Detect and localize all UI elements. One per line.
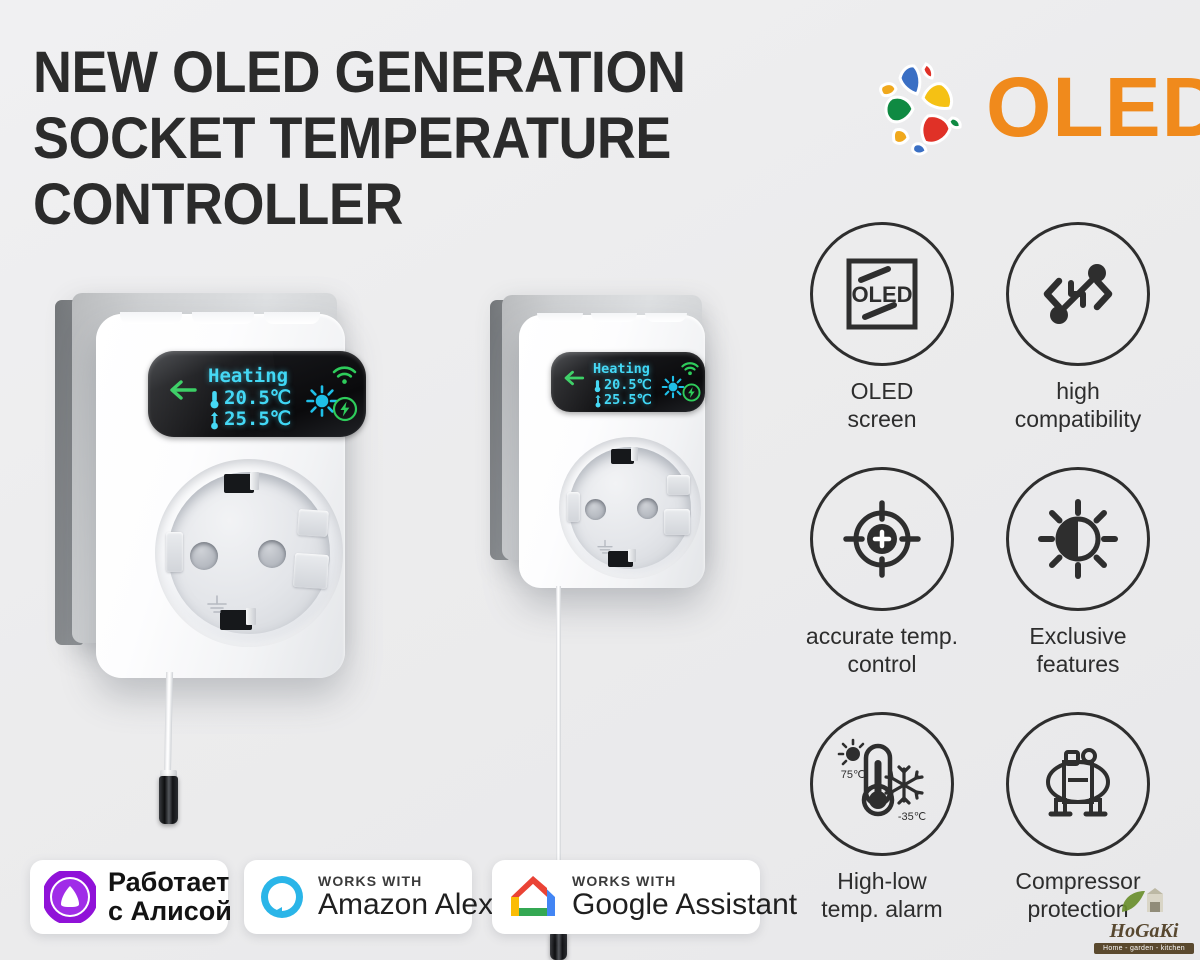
google-works-with: WORKS WITH xyxy=(572,873,797,889)
screen-mode-label: Heating xyxy=(208,365,288,387)
temperature-probe-secondary xyxy=(550,932,567,960)
watermark-name: HoGaKi xyxy=(1094,921,1194,941)
badge-amazon-alexa[interactable]: WORKS WITH Amazon Alexa xyxy=(244,860,472,934)
yandex-alice-icon xyxy=(44,871,96,923)
back-arrow-icon[interactable] xyxy=(168,379,198,401)
feature-exclusive-features: Exclusive features xyxy=(980,467,1176,678)
body-notch-mid xyxy=(192,312,254,324)
feature-circle-5: 75℃ xyxy=(810,712,954,856)
temperature-probe-primary xyxy=(159,776,178,824)
oled-brand-logo: OLED xyxy=(868,52,1168,162)
leaf-house-icon xyxy=(1117,888,1171,918)
feature-label-5: High-low temp. alarm xyxy=(784,868,980,923)
alice-line-1: Работает xyxy=(108,868,232,897)
feature-label-1: OLED screen xyxy=(784,378,980,433)
screen-current-temp: 20.5℃ xyxy=(224,387,291,409)
crosshair-target-icon xyxy=(838,495,926,583)
feature-circle-2 xyxy=(1006,222,1150,366)
thermometer-icon-secondary xyxy=(593,379,602,393)
contact-top-metal-2 xyxy=(631,447,638,461)
product-marketing-image: NEW OLED GENERATION SOCKET TEMPERATURE C… xyxy=(0,0,1200,960)
screen-set-temp-secondary: 25.5℃ xyxy=(604,392,652,408)
feature-label-2: high compatibility xyxy=(980,378,1176,433)
contact-top-metal xyxy=(250,472,259,490)
body-notch-right xyxy=(264,312,320,324)
feature-circle-1: OLED xyxy=(810,222,954,366)
screen-current-temp-secondary: 20.5℃ xyxy=(604,377,652,393)
probe-cable-secondary xyxy=(556,586,561,861)
brightness-sun-icon xyxy=(1035,496,1121,582)
svg-text:OLED: OLED xyxy=(851,282,912,307)
oled-screen-icon: OLED xyxy=(839,251,925,337)
power-bolt-icon xyxy=(332,396,358,422)
earth-clip-right-top xyxy=(297,509,329,537)
back-arrow-icon-secondary[interactable] xyxy=(563,370,585,386)
schuko-socket-recess-secondary xyxy=(569,447,691,569)
earth-clip-right-bottom xyxy=(293,553,329,589)
setpoint-icon-secondary xyxy=(594,394,602,408)
earth-clip-left-2 xyxy=(567,492,580,522)
setpoint-icon xyxy=(209,411,220,430)
oled-display-secondary[interactable]: Heating 20.5℃ 25.5℃ xyxy=(551,352,705,412)
wifi-icon-secondary xyxy=(681,361,699,376)
feature-high-compatibility: high compatibility xyxy=(980,222,1176,433)
earth-ground-symbol-2 xyxy=(595,539,615,556)
feature-oled-screen: OLED OLED screen xyxy=(784,222,980,433)
oled-display-primary[interactable]: Heating 20.5℃ 25.5℃ xyxy=(148,351,366,437)
power-bolt-icon-secondary xyxy=(682,383,701,402)
feature-high-low-temp-alarm: 75℃ xyxy=(784,712,980,923)
alexa-works-with: WORKS WITH xyxy=(318,873,510,889)
google-name: Google Assistant xyxy=(572,889,797,921)
watermark-logo: HoGaKi Home - garden - kitchen xyxy=(1094,888,1194,954)
feature-accurate-temp-control: accurate temp. control xyxy=(784,467,980,678)
watermark-tagline: Home - garden - kitchen xyxy=(1094,943,1194,954)
badge-google-assistant[interactable]: WORKS WITH Google Assistant xyxy=(492,860,760,934)
high-temp-text: 75℃ xyxy=(841,769,866,781)
thermometer-snowflake-icon: 75℃ xyxy=(832,738,932,830)
headline-line-1: NEW OLED GENERATION xyxy=(33,40,805,106)
feature-circle-4 xyxy=(1006,467,1150,611)
feature-label-3: accurate temp. control xyxy=(784,623,980,678)
pin-hole-left-2 xyxy=(585,499,606,520)
wifi-icon xyxy=(332,365,357,385)
page-title: NEW OLED GENERATION SOCKET TEMPERATURE C… xyxy=(33,40,863,238)
pin-hole-right-2 xyxy=(637,498,658,519)
body-notch-right-2 xyxy=(645,313,687,322)
pin-hole-right xyxy=(258,540,286,568)
alexa-name: Amazon Alexa xyxy=(318,889,510,921)
body-notch-left xyxy=(120,312,182,324)
pin-hole-left xyxy=(190,542,218,570)
alice-line-2: с Алисой xyxy=(108,897,232,926)
oled-wordmark: OLED xyxy=(986,60,1200,154)
earth-clip-right-top-2 xyxy=(667,475,690,495)
pinwheel-petals-icon xyxy=(868,56,973,161)
feature-label-4: Exclusive features xyxy=(980,623,1176,678)
earth-ground-symbol xyxy=(204,594,230,616)
earth-clip-left xyxy=(166,532,183,572)
amazon-alexa-icon xyxy=(258,873,306,921)
compatibility-nodes-icon xyxy=(1035,251,1121,337)
probe-cable-primary xyxy=(164,672,173,776)
earth-clip-right-bottom-2 xyxy=(664,509,690,535)
headline-line-3: CONTROLLER xyxy=(33,172,805,238)
google-assistant-home-icon xyxy=(506,872,560,922)
body-notch-mid-2 xyxy=(591,313,637,322)
compressor-icon xyxy=(1034,742,1122,826)
screen-set-temp: 25.5℃ xyxy=(224,408,291,430)
thermometer-icon xyxy=(208,390,221,409)
screen-mode-label-secondary: Heating xyxy=(593,361,650,377)
headline-line-2: SOCKET TEMPERATURE xyxy=(33,106,805,172)
feature-circle-6 xyxy=(1006,712,1150,856)
body-notch-left-2 xyxy=(537,313,583,322)
contact-bottom-metal-2 xyxy=(628,549,636,562)
contact-bottom-metal xyxy=(246,608,256,625)
badge-yandex-alice[interactable]: Работает с Алисой xyxy=(30,860,228,934)
schuko-socket-recess xyxy=(168,472,330,634)
low-temp-text: -35℃ xyxy=(898,811,926,823)
feature-circle-3 xyxy=(810,467,954,611)
